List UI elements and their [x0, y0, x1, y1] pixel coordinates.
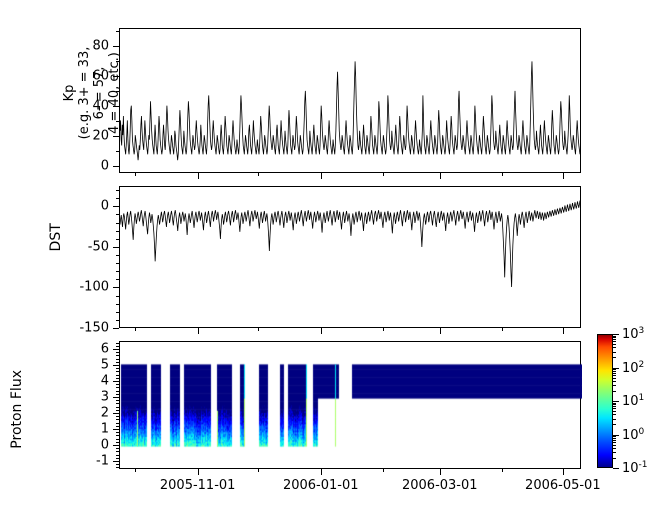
x-major-tick	[440, 328, 441, 334]
y-major-tick	[113, 365, 119, 366]
y-minor-tick	[116, 384, 119, 385]
colorbar-minor-tick	[613, 411, 616, 412]
y-minor-tick	[116, 214, 119, 215]
figure-canvas: 806040200 Kp (e.g. 3+ = 33, 6- = 57, 4 =…	[0, 0, 665, 523]
x-minor-tick	[383, 469, 384, 472]
x-major-tick	[563, 328, 564, 334]
y-major-tick	[113, 381, 119, 382]
colorbar-minor-tick	[613, 381, 616, 382]
y-minor-tick	[116, 271, 119, 272]
y-minor-tick	[116, 448, 119, 449]
colorbar-minor-tick	[613, 458, 616, 459]
kp-label-line-2: (e.g. 3+ = 33,	[77, 18, 92, 168]
dst-trace	[120, 187, 580, 327]
y-tick-label: -150	[49, 322, 109, 335]
colorbar-minor-tick	[613, 378, 616, 379]
x-minor-tick	[258, 469, 259, 472]
y-major-tick	[113, 349, 119, 350]
y-minor-tick	[116, 279, 119, 280]
colorbar-minor-tick	[613, 436, 616, 437]
colorbar-major-tick	[613, 401, 619, 402]
colorbar-major-tick	[613, 468, 619, 469]
dst-axis-title-text: DST	[49, 223, 64, 251]
colorbar-minor-tick	[613, 448, 616, 449]
colorbar-tick-label: 100	[622, 427, 644, 441]
x-minor-tick	[383, 173, 384, 176]
y-minor-tick	[116, 464, 119, 465]
y-minor-tick	[116, 387, 119, 388]
y-tick-label: -100	[49, 281, 109, 294]
y-minor-tick	[116, 223, 119, 224]
x-minor-tick	[258, 328, 259, 331]
y-minor-tick	[116, 451, 119, 452]
x-major-tick	[321, 328, 322, 334]
panel-dst-index	[119, 186, 581, 328]
y-minor-tick	[116, 439, 119, 440]
colorbar-minor-tick	[613, 414, 616, 415]
y-minor-tick	[116, 368, 119, 369]
y-minor-tick	[116, 426, 119, 427]
y-tick-label: 0	[49, 200, 109, 213]
y-tick-label: 2	[49, 407, 109, 420]
x-tick-label: 2006-01-01	[283, 479, 359, 492]
y-minor-tick	[116, 378, 119, 379]
y-minor-tick	[116, 410, 119, 411]
x-minor-tick	[383, 328, 384, 331]
x-tick-label: 2006-03-01	[402, 479, 478, 492]
y-minor-tick	[116, 320, 119, 321]
colorbar-minor-tick	[613, 419, 616, 420]
x-major-tick	[440, 173, 441, 179]
colorbar-minor-tick	[613, 406, 616, 407]
colorbar-minor-tick	[613, 445, 616, 446]
flux-axis-title: Proton Flux	[10, 370, 89, 385]
y-minor-tick	[116, 346, 119, 347]
y-tick-label: -1	[49, 455, 109, 468]
y-minor-tick	[116, 352, 119, 353]
y-minor-tick	[116, 355, 119, 356]
colorbar-tick-label: 102	[622, 360, 644, 374]
panel-proton-flux	[119, 341, 581, 469]
x-minor-tick	[502, 469, 503, 472]
x-major-tick	[563, 173, 564, 179]
x-major-tick	[563, 469, 564, 475]
x-minor-tick	[135, 173, 136, 176]
y-minor-tick	[116, 304, 119, 305]
colorbar-minor-tick	[613, 344, 616, 345]
y-minor-tick	[116, 416, 119, 417]
colorbar-minor-tick	[613, 375, 616, 376]
kp-label-line-1: Kp	[62, 18, 77, 168]
y-minor-tick	[116, 391, 119, 392]
y-tick-label: 3	[49, 391, 109, 404]
y-major-tick	[113, 413, 119, 414]
kp-label-line-4: 4 = 40, etc.)	[107, 18, 122, 168]
x-major-tick	[440, 469, 441, 475]
y-minor-tick	[116, 442, 119, 443]
y-minor-tick	[116, 190, 119, 191]
y-minor-tick	[116, 198, 119, 199]
x-tick-label: 2006-05-01	[525, 479, 601, 492]
y-minor-tick	[116, 371, 119, 372]
colorbar-tick-label: 101	[622, 394, 644, 408]
y-minor-tick	[116, 407, 119, 408]
x-major-tick	[198, 469, 199, 475]
colorbar-minor-tick	[613, 371, 616, 372]
x-minor-tick	[258, 173, 259, 176]
colorbar-minor-tick	[613, 408, 616, 409]
y-major-tick	[113, 445, 119, 446]
x-major-tick	[321, 173, 322, 179]
colorbar-minor-tick	[613, 403, 616, 404]
y-minor-tick	[116, 263, 119, 264]
y-minor-tick	[116, 255, 119, 256]
y-minor-tick	[116, 455, 119, 456]
colorbar-minor-tick	[613, 369, 616, 370]
colorbar-minor-tick	[613, 352, 616, 353]
colorbar-minor-tick	[613, 341, 616, 342]
colorbar-minor-tick	[613, 424, 616, 425]
y-minor-tick	[116, 400, 119, 401]
colorbar-minor-tick	[613, 452, 616, 453]
y-major-tick	[113, 397, 119, 398]
y-minor-tick	[116, 419, 119, 420]
y-tick-label: 6	[49, 343, 109, 356]
x-tick-label: 2005-11-01	[160, 479, 236, 492]
colorbar-minor-tick	[613, 357, 616, 358]
colorbar-minor-tick	[613, 373, 616, 374]
x-major-tick	[198, 328, 199, 334]
y-minor-tick	[116, 435, 119, 436]
y-minor-tick	[116, 343, 119, 344]
colorbar-minor-tick	[613, 438, 616, 439]
y-minor-tick	[116, 467, 119, 468]
y-minor-tick	[116, 394, 119, 395]
panel-kp-index	[119, 28, 581, 173]
colorbar-tick-label: 103	[622, 327, 644, 341]
x-minor-tick	[502, 173, 503, 176]
colorbar-minor-tick	[613, 347, 616, 348]
x-minor-tick	[135, 469, 136, 472]
flux-axis-title-text: Proton Flux	[10, 370, 25, 449]
colorbar-minor-tick	[613, 336, 616, 337]
y-minor-tick	[116, 375, 119, 376]
colorbar-minor-tick	[613, 385, 616, 386]
colorbar-minor-tick	[613, 339, 616, 340]
y-minor-tick	[116, 458, 119, 459]
colorbar-tick-label: 10-1	[622, 461, 648, 475]
y-minor-tick	[116, 312, 119, 313]
y-major-tick	[113, 206, 119, 207]
x-minor-tick	[502, 328, 503, 331]
y-minor-tick	[116, 359, 119, 360]
x-major-tick	[321, 469, 322, 475]
proton-flux-spectrogram	[120, 342, 582, 470]
colorbar-major-tick	[613, 334, 619, 335]
kp-trace	[120, 29, 580, 172]
x-major-tick	[198, 173, 199, 179]
y-tick-label: 0	[49, 439, 109, 452]
x-minor-tick	[135, 328, 136, 331]
y-minor-tick	[116, 423, 119, 424]
colorbar-minor-tick	[613, 442, 616, 443]
colorbar-minor-tick	[613, 337, 616, 338]
y-minor-tick	[116, 362, 119, 363]
colorbar	[597, 334, 613, 468]
y-minor-tick	[116, 296, 119, 297]
dst-axis-title: DST	[42, 230, 70, 245]
y-minor-tick	[116, 239, 119, 240]
kp-label-line-3: 6- = 57,	[92, 18, 107, 168]
colorbar-gradient	[597, 334, 613, 468]
y-major-tick	[113, 461, 119, 462]
y-minor-tick	[116, 403, 119, 404]
colorbar-minor-tick	[613, 391, 616, 392]
y-minor-tick	[116, 231, 119, 232]
colorbar-minor-tick	[613, 404, 616, 405]
y-minor-tick	[116, 432, 119, 433]
y-major-tick	[113, 429, 119, 430]
y-tick-label: 1	[49, 423, 109, 436]
y-major-tick	[113, 287, 119, 288]
y-major-tick	[113, 328, 119, 329]
colorbar-minor-tick	[613, 440, 616, 441]
y-major-tick	[113, 247, 119, 248]
